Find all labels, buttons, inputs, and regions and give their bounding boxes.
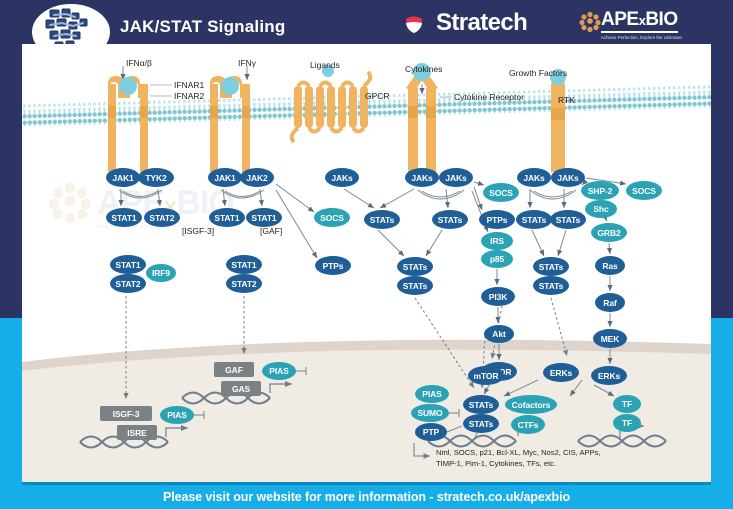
node-stats: STATs <box>463 395 499 414</box>
node-jak2: JAK2 <box>240 168 274 187</box>
stratech-mark-icon <box>404 14 424 34</box>
node-stats: STATs <box>533 257 569 276</box>
node-stats: STATs <box>533 276 569 295</box>
element-gas: GAS <box>221 381 261 396</box>
gene-target-list: Nml, SOCS, p21, Bcl-XL, Myc, Nos2, CIS, … <box>436 448 601 469</box>
node-erks: ERKs <box>543 363 579 382</box>
node-tf: TF <box>613 395 641 413</box>
node-jaks: JAKs <box>551 168 585 187</box>
node-stat1: STAT1 <box>106 208 142 227</box>
node-shp-2: SHP-2 <box>581 181 619 200</box>
label-gpcr: GPCR <box>365 91 390 101</box>
element-isgf-3: ISGF-3 <box>100 406 152 421</box>
node-tf: TF <box>613 414 641 432</box>
node-stats: STATs <box>364 210 400 229</box>
node-jak1: JAK1 <box>208 168 242 187</box>
label-cytokine-receptor: Cytokine Receptor <box>454 92 524 102</box>
node-ptps: PTPs <box>315 256 351 275</box>
node-stats: STATs <box>550 210 586 229</box>
node-jaks: JAKs <box>325 168 359 187</box>
node-stats: STATs <box>463 414 499 433</box>
label-rtk: RTK <box>558 95 575 105</box>
label-ifn-: IFNγ <box>238 58 256 68</box>
node-erks: ERKs <box>591 366 627 385</box>
gene-target-line2: TIMP-1, Pim-1, Cytokines, TFs, etc. <box>436 459 601 470</box>
node-stat1: STAT1 <box>209 208 245 227</box>
gene-target-line1: Nml, SOCS, p21, Bcl-XL, Myc, Nos2, CIS, … <box>436 448 601 459</box>
footer-text: Please visit our website for more inform… <box>163 490 570 504</box>
node-mtor: mTOR <box>468 366 504 385</box>
label-ifnar2: IFNAR2 <box>174 91 204 101</box>
node-stat2: STAT2 <box>144 208 180 227</box>
node-stat1: STAT1 <box>246 208 282 227</box>
node-socs: SOCS <box>483 183 519 202</box>
label-ifnar1: IFNAR1 <box>174 80 204 90</box>
node-jak1: JAK1 <box>106 168 140 187</box>
node-stat2: STAT2 <box>110 274 146 293</box>
node-ptp: PTP <box>415 423 447 441</box>
node-stat1: STAT1 <box>226 255 262 274</box>
apexbio-tagline: Achieve Perfection, Explore the Unknown <box>601 35 719 40</box>
node-pias: PIAS <box>262 362 296 380</box>
node-mek: MEK <box>593 329 627 348</box>
node-sumo: SUMO <box>411 404 449 422</box>
node-jaks: JAKs <box>405 168 439 187</box>
label-growth-factors: Growth Factors <box>509 68 567 78</box>
node-p85: p85 <box>481 250 513 268</box>
node-stats: STATs <box>516 210 552 229</box>
label-ligands: Ligands <box>310 60 340 70</box>
node-tyk2: TYK2 <box>138 168 174 187</box>
node-pi3k: PI3K <box>481 287 515 306</box>
apexbio-wordmark: APExBIO <box>601 10 678 33</box>
node-stat1: STAT1 <box>110 255 146 274</box>
poster-footer: Please visit our website for more inform… <box>0 485 733 509</box>
node-ptps: PTPs <box>479 210 515 229</box>
node-socs: SOCS <box>314 208 350 227</box>
node-cofactors: Cofactors <box>505 395 557 414</box>
node-pias: PIAS <box>415 385 449 403</box>
node-raf: Raf <box>595 293 625 312</box>
node-stats: STATs <box>397 276 433 295</box>
node-stat2: STAT2 <box>226 274 262 293</box>
label-ifn-: IFNα/β <box>126 58 152 68</box>
node-shc: Shc <box>585 200 617 218</box>
node-stats: STATs <box>432 210 468 229</box>
poster: JAK/STAT Signaling Stratech APExBIO Achi… <box>0 0 733 509</box>
label--isgf-3-: [ISGF-3] <box>182 226 214 236</box>
label--gaf-: [GAF] <box>260 226 282 236</box>
stratech-wordmark: Stratech <box>436 9 527 37</box>
element-isre: ISRE <box>117 425 157 440</box>
apexbio-logo: APExBIO Achieve Perfection, Explore the … <box>601 10 719 40</box>
apexbio-cluster-icon <box>579 11 601 33</box>
node-stats: STATs <box>397 257 433 276</box>
node-jaks: JAKs <box>517 168 551 187</box>
page-title: JAK/STAT Signaling <box>120 17 285 37</box>
pathway-diagram: APExBIO Achieve Perfection, Explore the … <box>22 44 711 485</box>
poster-header: JAK/STAT Signaling Stratech APExBIO Achi… <box>0 0 733 44</box>
node-grb2: GRB2 <box>591 223 627 242</box>
element-gaf: GAF <box>214 362 254 377</box>
node-pias: PIAS <box>160 406 194 424</box>
node-irs: IRS <box>481 232 513 250</box>
label-cytokines: Cytokines <box>405 64 442 74</box>
node-ras: Ras <box>595 256 625 275</box>
node-irf9: IRF9 <box>146 264 176 282</box>
node-jaks: JAKs <box>439 168 473 187</box>
node-ctfs: CTFs <box>511 415 545 434</box>
node-akt: Akt <box>484 325 514 343</box>
node-socs: SOCS <box>626 181 662 200</box>
